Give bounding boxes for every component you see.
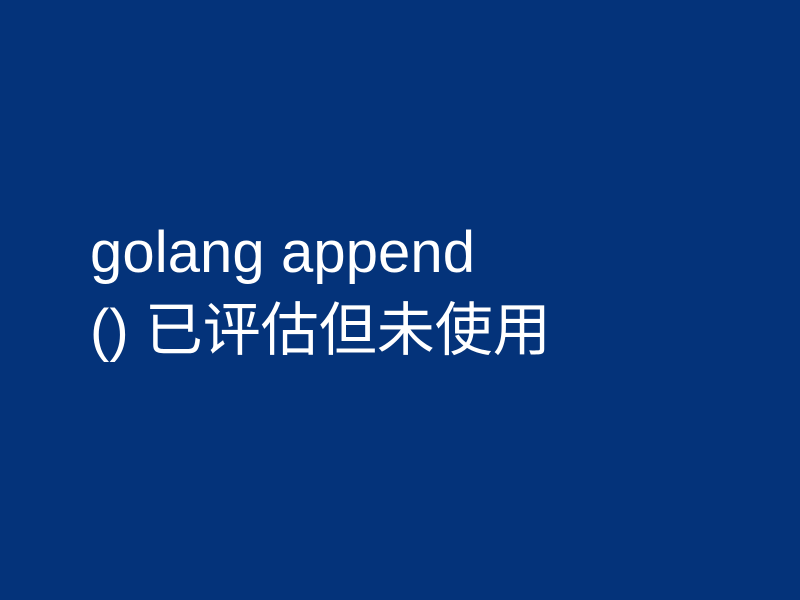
page-title: golang append () 已评估但未使用 xyxy=(90,214,730,370)
title-line-1: golang append xyxy=(90,214,730,292)
title-line-2: () 已评估但未使用 xyxy=(90,292,730,370)
title-card: golang append () 已评估但未使用 xyxy=(0,0,800,600)
